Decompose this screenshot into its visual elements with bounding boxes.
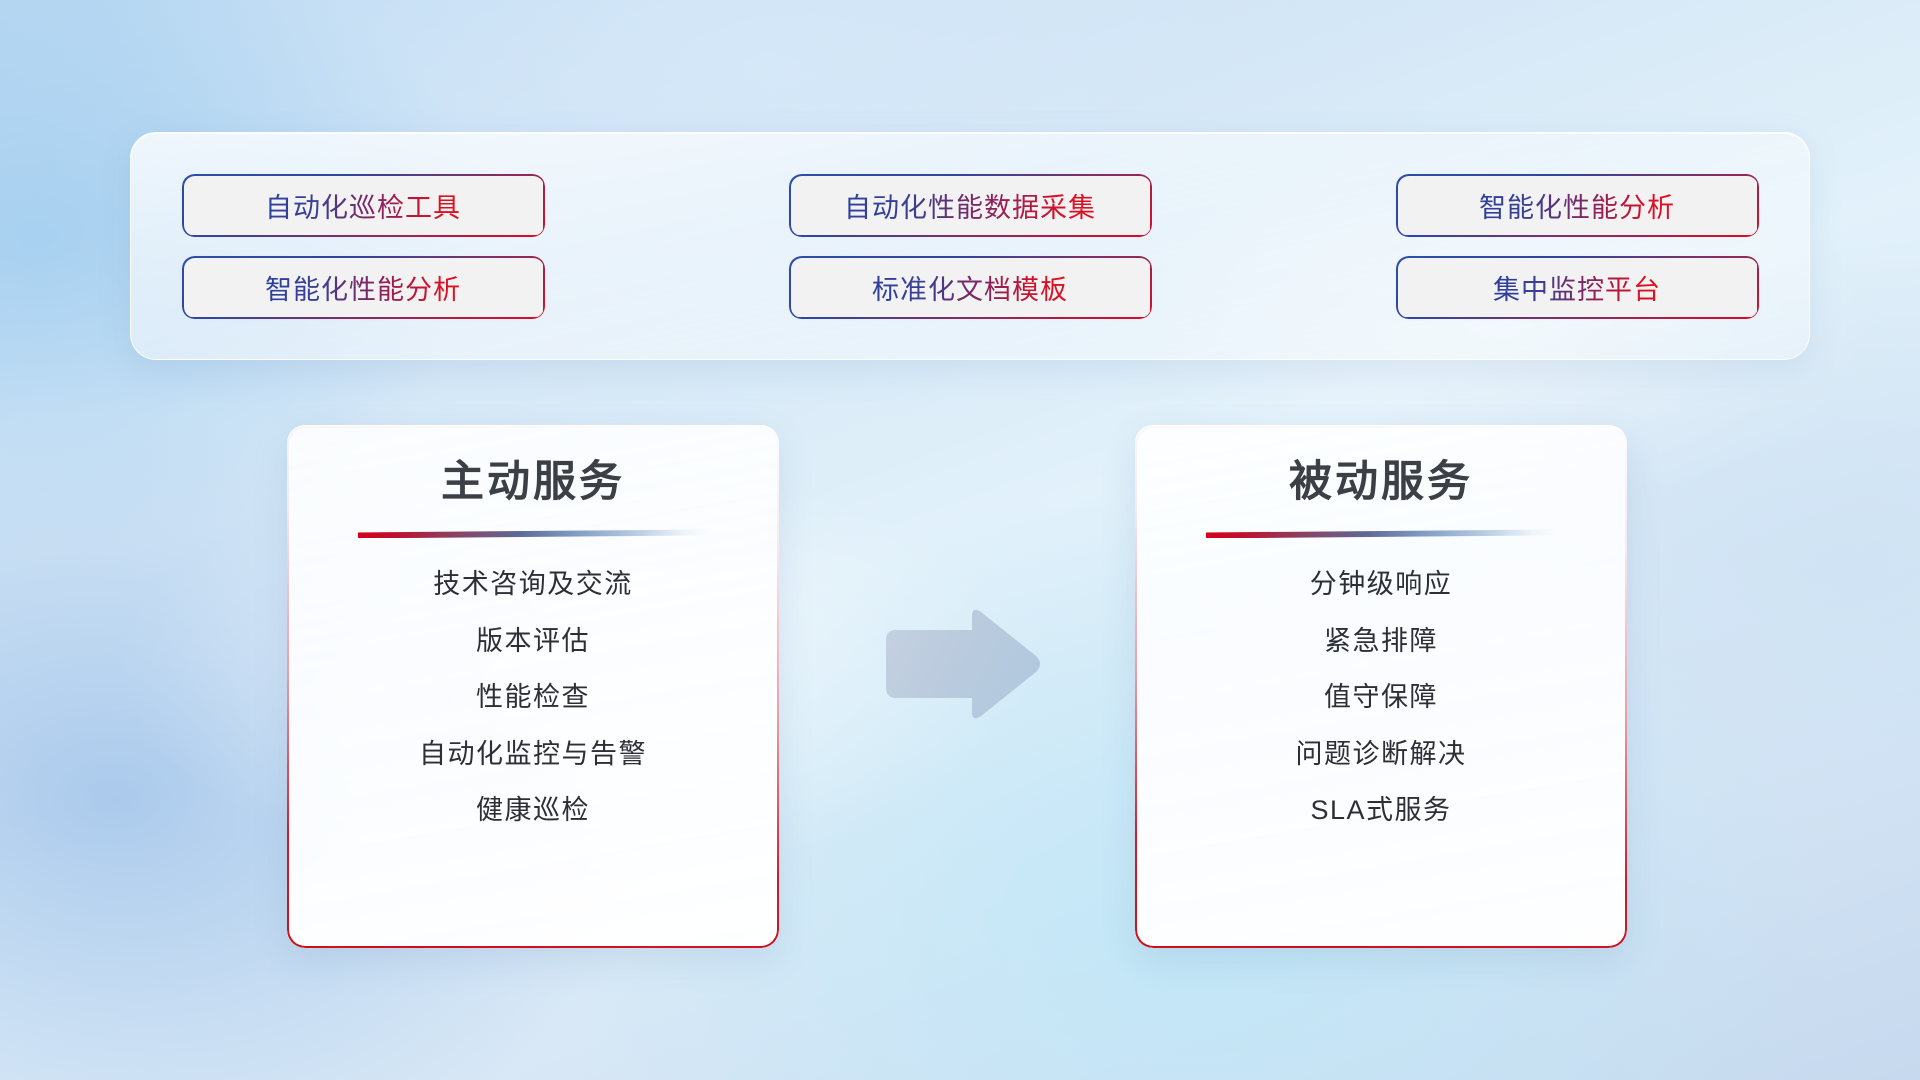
list-item: 性能检查 xyxy=(476,681,590,713)
capability-pill[interactable]: 自动化性能数据采集 xyxy=(790,175,1150,235)
card-title: 主动服务 xyxy=(441,458,625,507)
card-divider xyxy=(358,529,708,538)
card-content: 主动服务 技术咨询及交流 版本评估 性能检查 自动化监控与告警 健康巡检 xyxy=(287,426,779,948)
list-item: 紧急排障 xyxy=(1324,625,1438,657)
capability-pill[interactable]: 标准化文档模板 xyxy=(790,257,1150,317)
capability-pill-label: 集中监控平台 xyxy=(1493,268,1661,307)
list-item: 分钟级响应 xyxy=(1310,568,1453,600)
list-item: 值守保障 xyxy=(1324,681,1438,713)
service-item-list: 分钟级响应 紧急排障 值守保障 问题诊断解决 SLA式服务 xyxy=(1175,568,1587,826)
capability-pill-label: 标准化文档模板 xyxy=(872,268,1068,307)
list-item: 健康巡检 xyxy=(476,794,590,826)
card-title: 被动服务 xyxy=(1289,458,1473,507)
card-divider xyxy=(1206,529,1556,538)
list-item: 技术咨询及交流 xyxy=(433,568,633,600)
capability-row-2: 智能化性能分析 标准化文档模板 集中监控平台 xyxy=(183,257,1757,317)
capability-row-1: 自动化巡检工具 自动化性能数据采集 智能化性能分析 xyxy=(183,175,1757,235)
list-item: 问题诊断解决 xyxy=(1296,738,1467,770)
capability-pill[interactable]: 集中监控平台 xyxy=(1397,257,1757,317)
capability-pill[interactable]: 自动化巡检工具 xyxy=(183,175,543,235)
capability-panel: 自动化巡检工具 自动化性能数据采集 智能化性能分析 智能化性能分析 标准化文档模… xyxy=(130,132,1810,360)
list-item: 自动化监控与告警 xyxy=(419,738,647,770)
capability-pill-label: 自动化巡检工具 xyxy=(265,186,461,225)
capability-pill[interactable]: 智能化性能分析 xyxy=(1397,175,1757,235)
list-item: 版本评估 xyxy=(476,625,590,657)
service-card-passive[interactable]: 被动服务 分钟级响应 紧急排障 值守保障 问题诊断解决 SLA式服务 xyxy=(1135,425,1627,948)
capability-pill-label: 智能化性能分析 xyxy=(265,268,461,307)
arrow-right-icon xyxy=(876,604,1044,724)
card-content: 被动服务 分钟级响应 紧急排障 值守保障 问题诊断解决 SLA式服务 xyxy=(1135,426,1627,948)
capability-pill[interactable]: 智能化性能分析 xyxy=(183,257,543,317)
capability-pill-label: 智能化性能分析 xyxy=(1479,186,1675,225)
list-item: SLA式服务 xyxy=(1310,794,1451,826)
service-card-active[interactable]: 主动服务 技术咨询及交流 版本评估 性能检查 自动化监控与告警 健康巡检 xyxy=(287,425,779,948)
service-item-list: 技术咨询及交流 版本评估 性能检查 自动化监控与告警 健康巡检 xyxy=(327,568,739,826)
capability-pill-label: 自动化性能数据采集 xyxy=(844,186,1096,225)
